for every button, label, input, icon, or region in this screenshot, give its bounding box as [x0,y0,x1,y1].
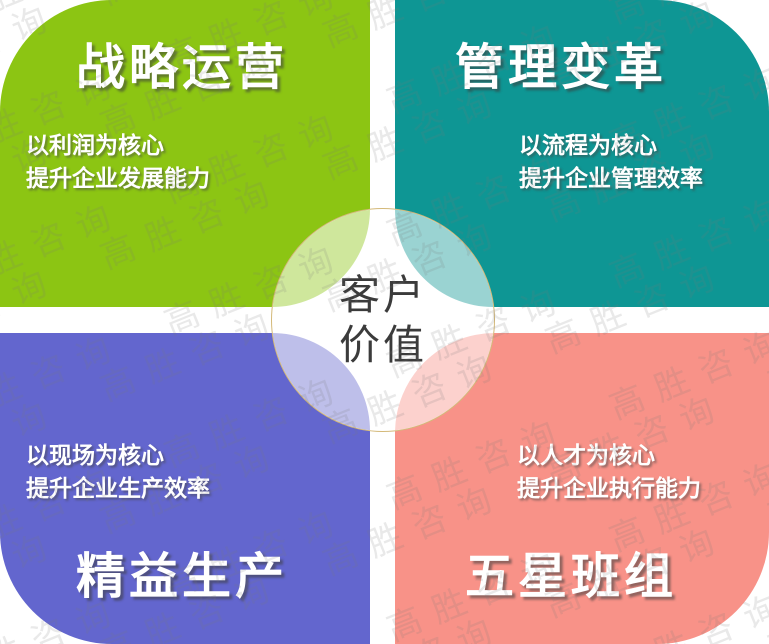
quadrant-subtitle-bottom-right: 以人才为核心 提升企业执行能力 [517,440,701,506]
subtitle-line-1: 以人才为核心 [517,440,701,473]
quadrant-title-top-left: 战略运营 [76,28,288,99]
four-quadrant-diagram: 客户 价值 战略运营 管理变革 精益生产 五星班组 以利润为核心 提升企业发展能… [0,0,769,644]
subtitle-line-1: 以流程为核心 [519,130,703,163]
quadrant-title-top-right: 管理变革 [455,28,667,99]
subtitle-line-2: 提升企业执行能力 [517,473,701,506]
quadrant-subtitle-top-right: 以流程为核心 提升企业管理效率 [519,130,703,196]
quadrant-title-bottom-left: 精益生产 [76,537,288,608]
subtitle-line-2: 提升企业管理效率 [519,163,703,196]
quadrant-title-bottom-right: 五星班组 [465,537,677,608]
quadrant-subtitle-top-left: 以利润为核心 提升企业发展能力 [26,130,210,196]
quadrant-subtitle-bottom-left: 以现场为核心 提升企业生产效率 [26,440,210,506]
subtitle-line-2: 提升企业生产效率 [26,473,210,506]
subtitle-line-1: 以现场为核心 [26,440,210,473]
subtitle-line-1: 以利润为核心 [26,130,210,163]
subtitle-line-2: 提升企业发展能力 [26,163,210,196]
center-circle [271,208,495,432]
